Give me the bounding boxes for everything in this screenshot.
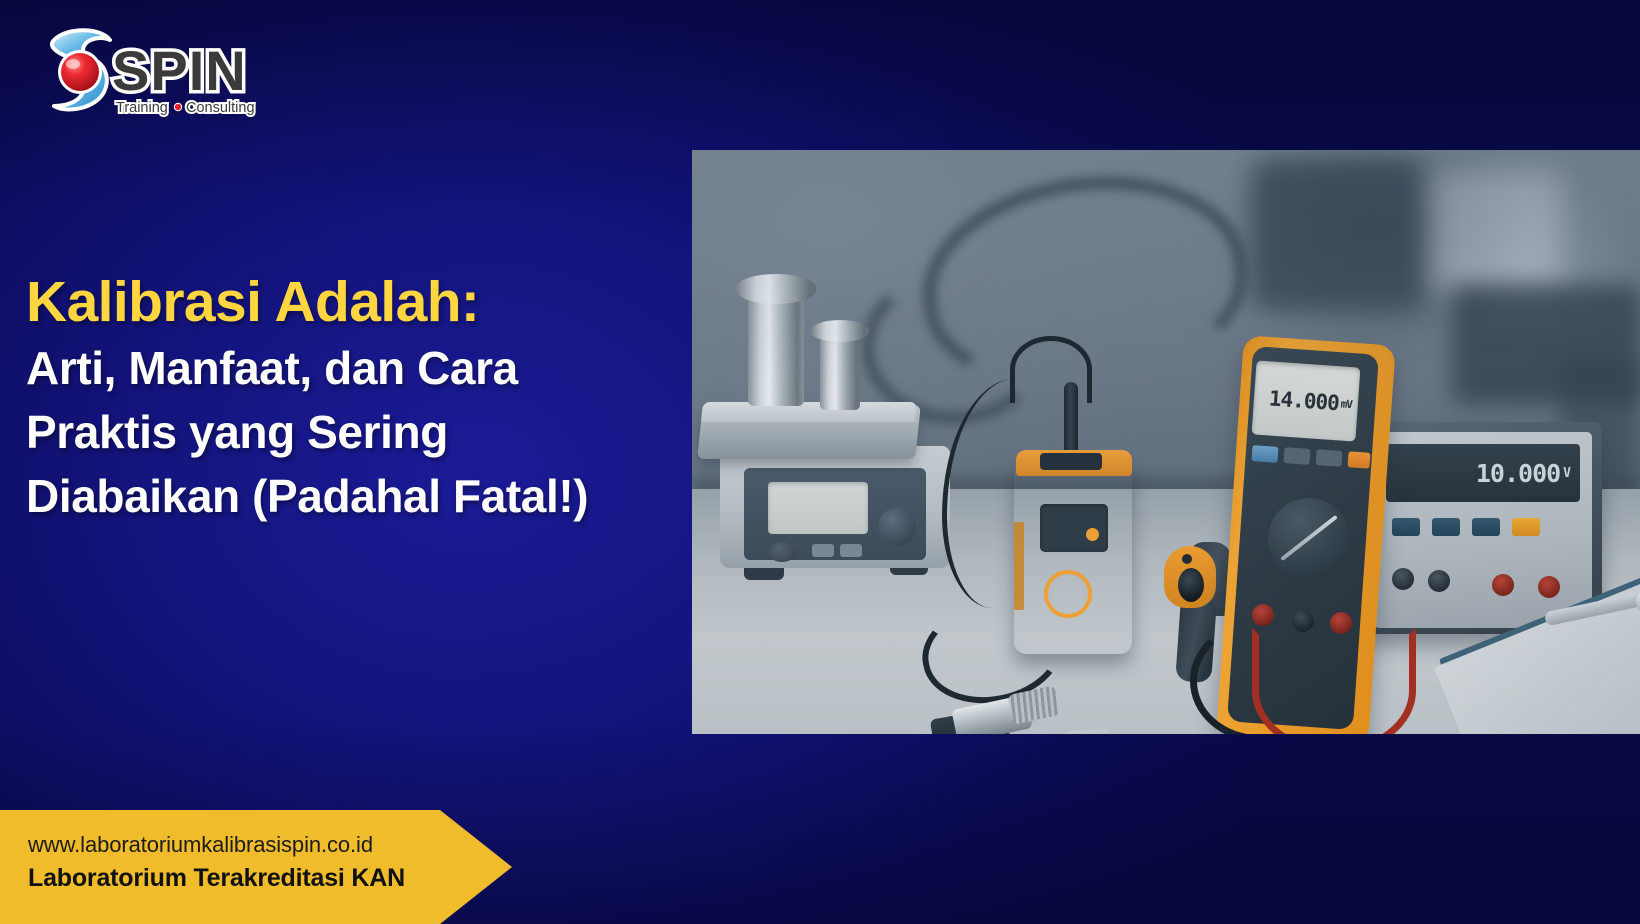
data-logger-indicator <box>1086 528 1099 541</box>
logger-probe <box>1064 382 1078 460</box>
logger-probe-wire <box>1010 336 1092 403</box>
hero-photo: 10.000 V 14.000 mV <box>692 150 1640 734</box>
headline-primary: Kalibrasi Adalah: <box>26 272 716 333</box>
ir-thermometer-lens <box>1178 568 1204 602</box>
balance-knob <box>878 508 916 546</box>
handheld-reading-unit: mV <box>1340 397 1352 411</box>
bench-button-2 <box>1432 518 1460 536</box>
handheld-reading-value: 14.000 <box>1268 386 1339 415</box>
accreditation-label: Laboratorium Terakreditasi KAN <box>28 864 405 893</box>
logo-sphere-highlight <box>66 59 80 69</box>
calibration-weight-large-knob <box>736 274 816 304</box>
headline-secondary: Arti, Manfaat, dan Cara Praktis yang Ser… <box>26 337 716 529</box>
logo-wordmark: SPIN <box>112 39 247 102</box>
calibration-weight-small-knob <box>811 320 869 342</box>
logo-sphere-icon <box>61 53 99 91</box>
data-logger-side-stripe <box>1014 522 1024 610</box>
spin-logo[interactable]: SPIN Training Consulting SPIN Training •… <box>24 18 262 122</box>
handheld-button-range <box>1283 447 1310 465</box>
lab-scene: 10.000 V 14.000 mV <box>692 150 1640 734</box>
handheld-multimeter-display: 14.000 mV <box>1252 360 1361 441</box>
bench-reading-value: 10.000 <box>1476 459 1560 488</box>
bench-button-3 <box>1472 518 1500 536</box>
bench-jack-1 <box>1392 568 1414 590</box>
balance-button-2 <box>840 544 862 557</box>
ir-thermometer-sensor <box>1182 554 1192 564</box>
background-object-a <box>1252 160 1422 310</box>
poster-canvas: SPIN Training Consulting SPIN Training •… <box>0 0 1640 924</box>
bench-jack-4 <box>1538 576 1560 598</box>
spin-logo-mark: SPIN Training Consulting <box>24 18 262 122</box>
bench-button-4 <box>1512 518 1540 536</box>
data-logger-power-ring <box>1044 570 1092 618</box>
bench-jack-3 <box>1492 574 1514 596</box>
headline-block: Kalibrasi Adalah: Arti, Manfaat, dan Car… <box>26 272 716 529</box>
handheld-button-blue <box>1251 445 1278 463</box>
data-logger-screen <box>1040 504 1108 552</box>
bench-multimeter-display: 10.000 V <box>1386 444 1580 502</box>
bench-reading-unit: V <box>1563 466 1570 481</box>
svg-text:Consulting: Consulting <box>186 100 255 116</box>
balance-pan-surface <box>701 402 917 422</box>
svg-text:Training: Training <box>116 100 168 116</box>
background-object-b <box>1432 170 1562 290</box>
balance-button-1 <box>812 544 834 557</box>
headline-line-3: Praktis yang Sering <box>26 401 716 465</box>
logo-tagline: Training Consulting <box>116 100 255 116</box>
balance-display <box>768 482 868 534</box>
calibration-weight-large <box>748 290 804 406</box>
handheld-button-orange <box>1347 451 1370 468</box>
handheld-button-hold <box>1315 449 1342 467</box>
bench-button-1 <box>1392 518 1420 536</box>
test-lead-red <box>1252 628 1416 734</box>
calibration-weight-small <box>820 332 860 410</box>
balance-knob-secondary <box>768 542 796 562</box>
headline-line-4: Diabaikan (Padahal Fatal!) <box>26 465 716 529</box>
headline-line-2: Arti, Manfaat, dan Cara <box>26 337 716 401</box>
bench-jack-2 <box>1428 570 1450 592</box>
data-logger-probe-port <box>1040 453 1102 470</box>
website-url[interactable]: www.laboratoriumkalibrasispin.co.id <box>28 832 373 858</box>
